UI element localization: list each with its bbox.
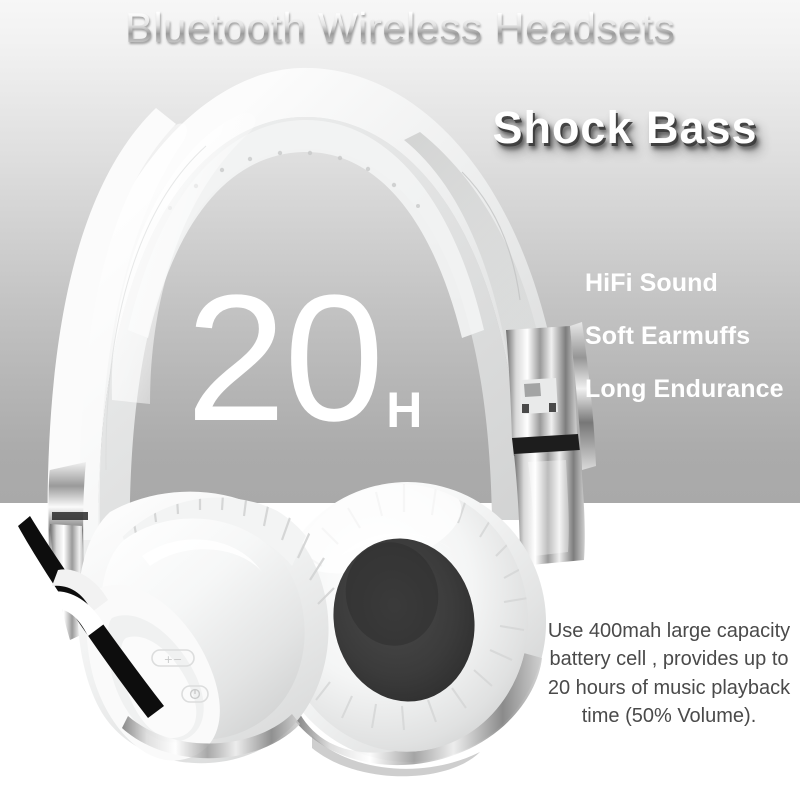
feature-list: HiFi Sound Soft Earmuffs Long Endurance — [585, 271, 800, 402]
battery-hours-number: 20 — [186, 282, 382, 437]
page-title: Bluetooth Wireless Headsets — [0, 4, 800, 52]
feature-item-hifi-sound: HiFi Sound — [585, 271, 800, 296]
battery-hours-unit: H — [382, 385, 422, 437]
feature-item-soft-earmuffs: Soft Earmuffs — [585, 324, 800, 349]
feature-item-long-endurance: Long Endurance — [585, 377, 800, 402]
battery-life-badge: 20 H — [186, 282, 422, 437]
tagline: Shock Bass — [455, 102, 795, 154]
product-advertisement: +− Bluetooth Wireless Headsets Shock Bas… — [0, 0, 800, 800]
right-slider-chrome — [506, 322, 596, 566]
svg-text:+−: +− — [164, 653, 182, 666]
battery-description-text: Use 400mah large capacity battery cell ,… — [540, 617, 798, 731]
